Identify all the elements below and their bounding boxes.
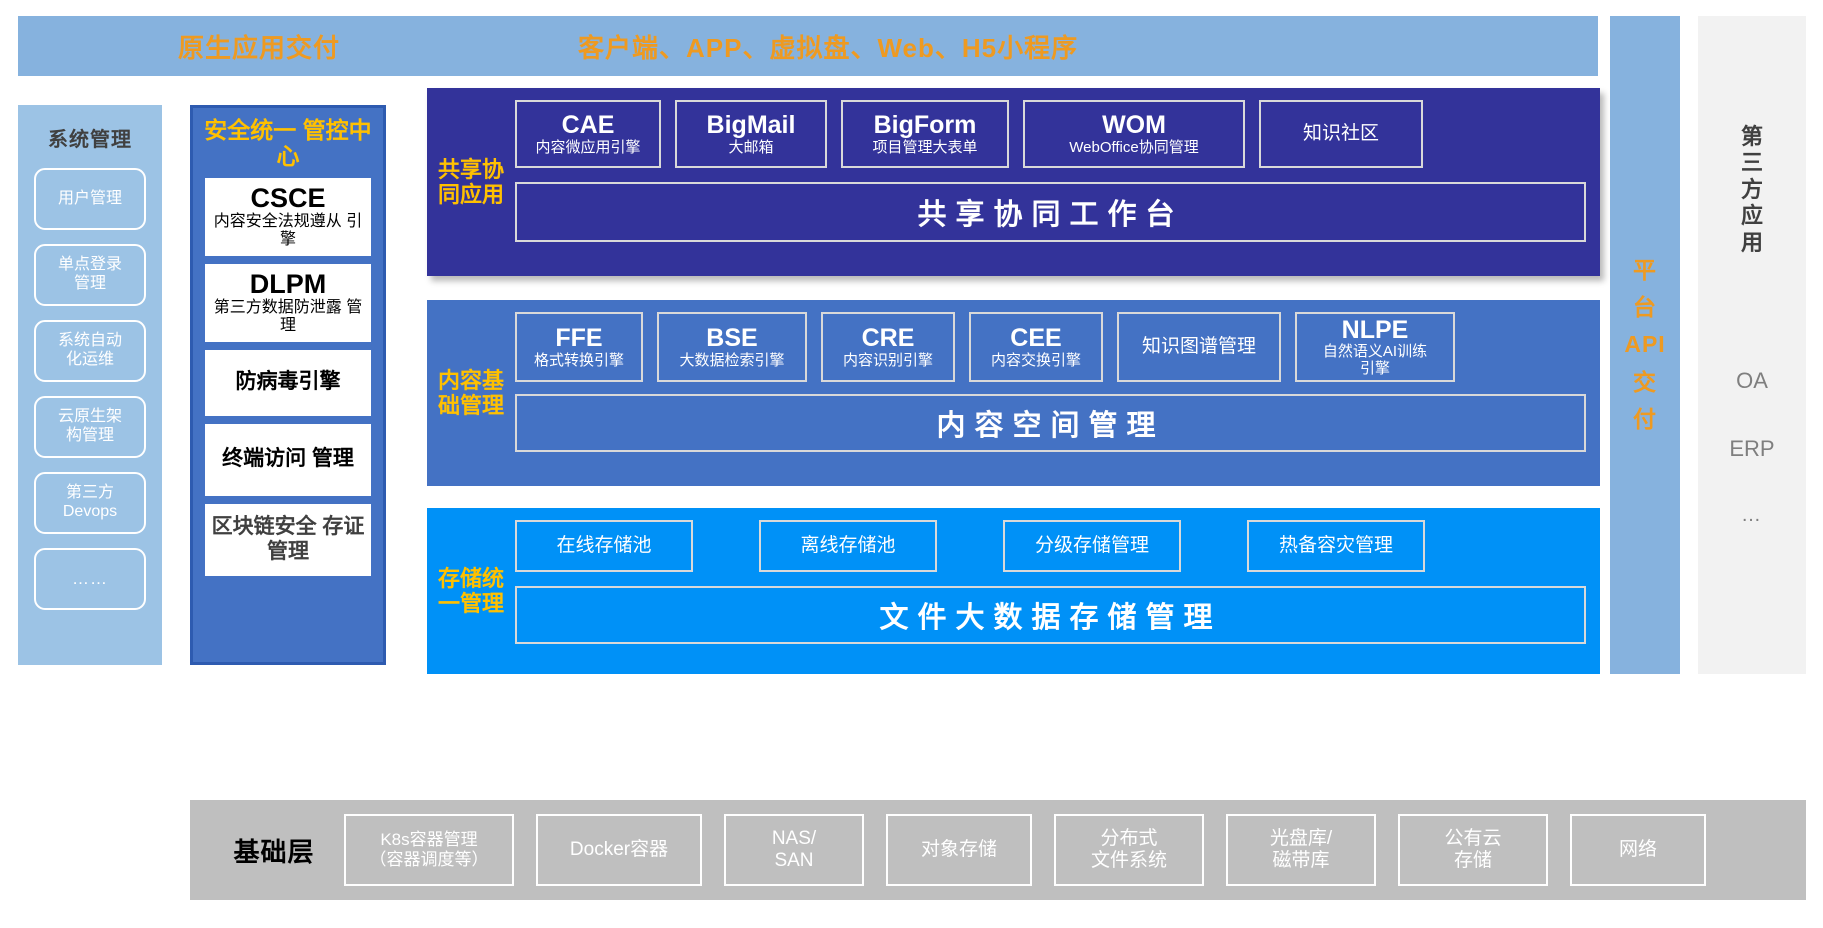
- security-item-terminal-access[interactable]: 终端访问 管理: [205, 424, 371, 496]
- security-item-antivirus-engine[interactable]: 防病毒引擎: [205, 350, 371, 416]
- app-chip-bigform-desc: 项目管理大表单: [872, 140, 977, 157]
- content-chip-bse-desc: 大数据检索引擎: [679, 353, 784, 370]
- third-party-option-more: …: [1741, 504, 1763, 527]
- content-chip-cee[interactable]: CEE 内容交换引擎: [969, 312, 1103, 382]
- third-party-title: 第 三 方 应 用: [1741, 124, 1763, 256]
- panel-shared-collaboration: 共享协 同应用 CAE 内容微应用引擎 BigMail 大邮箱 BigForm …: [427, 88, 1600, 276]
- sidebar-item-sso-management[interactable]: 单点登录 管理: [34, 244, 146, 306]
- security-item-csce-desc: 内容安全法规遵从 引擎: [207, 213, 369, 249]
- panel-storage-management: 存储统 一管理 在线存储池 离线存储池 分级存储管理 热备容灾管理 文件大数据存…: [427, 508, 1600, 674]
- content-chip-cre-desc: 内容识别引擎: [843, 353, 933, 370]
- app-chip-knowledge-community-label: 知识社区: [1303, 123, 1379, 145]
- storage-chip-online-pool[interactable]: 在线存储池: [515, 520, 693, 572]
- app-chip-cae[interactable]: CAE 内容微应用引擎: [515, 100, 661, 168]
- content-chip-ffe-desc: 格式转换引擎: [534, 353, 624, 370]
- security-item-csce-code: CSCE: [250, 184, 325, 213]
- infra-chip-docker[interactable]: Docker容器: [536, 814, 702, 886]
- storage-chip-tiered-storage-label: 分级存储管理: [1035, 535, 1149, 557]
- content-chip-cre[interactable]: CRE 内容识别引擎: [821, 312, 955, 382]
- top-banner-right-label: 客户端、APP、虚拟盘、Web、H5小程序: [578, 28, 1078, 65]
- content-chip-bse-code: BSE: [706, 325, 757, 353]
- system-management-title: 系统管理: [48, 123, 132, 152]
- security-item-csce[interactable]: CSCE 内容安全法规遵从 引擎: [205, 178, 371, 256]
- content-chip-nlpe[interactable]: NLPE 自然语义AI训练 引擎: [1295, 312, 1455, 382]
- platform-api-column: 平 台 API 交 付: [1610, 16, 1680, 674]
- file-bigdata-storage-bar[interactable]: 文件大数据存储管理: [515, 586, 1586, 644]
- content-chip-cee-code: CEE: [1010, 325, 1061, 353]
- content-space-management-bar[interactable]: 内容空间管理: [515, 394, 1586, 452]
- panel-shared-collaboration-chips: CAE 内容微应用引擎 BigMail 大邮箱 BigForm 项目管理大表单 …: [515, 100, 1586, 168]
- diagram-canvas: 原生应用交付 客户端、APP、虚拟盘、Web、H5小程序 系统管理 用户管理 单…: [0, 0, 1823, 928]
- storage-chip-offline-pool-label: 离线存储池: [800, 535, 895, 557]
- infra-chip-object-storage[interactable]: 对象存储: [886, 814, 1032, 886]
- infra-chip-optical-tape-library[interactable]: 光盘库/ 磁带库: [1226, 814, 1376, 886]
- infra-chip-k8s[interactable]: K8s容器管理 （容器调度等）: [344, 814, 514, 886]
- shared-collaboration-workbench-bar[interactable]: 共享协同工作台: [515, 182, 1586, 242]
- app-chip-bigform[interactable]: BigForm 项目管理大表单: [841, 100, 1009, 168]
- storage-chip-hot-standby-dr-label: 热备容灾管理: [1279, 535, 1393, 557]
- app-chip-wom-code: WOM: [1102, 112, 1166, 140]
- platform-api-label: 平 台 API 交 付: [1624, 252, 1665, 438]
- infra-chip-public-cloud-storage[interactable]: 公有云 存储: [1398, 814, 1548, 886]
- sidebar-item-automated-ops[interactable]: 系统自动 化运维: [34, 320, 146, 382]
- security-item-terminal-access-label: 终端访问 管理: [222, 447, 354, 472]
- storage-chip-online-pool-label: 在线存储池: [556, 535, 651, 557]
- security-item-dlpm-code: DLPM: [250, 270, 327, 299]
- panel-content-base-management: 内容基 础管理 FFE 格式转换引擎 BSE 大数据检索引擎 CRE 内容识别引…: [427, 300, 1600, 486]
- panel-content-base-management-label: 内容基 础管理: [427, 300, 515, 486]
- content-chip-nlpe-desc: 自然语义AI训练 引擎: [1323, 344, 1427, 377]
- content-chip-nlpe-code: NLPE: [1342, 317, 1409, 345]
- security-item-dlpm[interactable]: DLPM 第三方数据防泄露 管理: [205, 264, 371, 342]
- infra-chip-nas-san[interactable]: NAS/ SAN: [724, 814, 864, 886]
- content-chip-knowledge-graph[interactable]: 知识图谱管理: [1117, 312, 1281, 382]
- app-chip-wom[interactable]: WOM WebOffice协同管理: [1023, 100, 1245, 168]
- content-chip-ffe-code: FFE: [555, 325, 602, 353]
- content-chip-bse[interactable]: BSE 大数据检索引擎: [657, 312, 807, 382]
- storage-chip-tiered-storage[interactable]: 分级存储管理: [1003, 520, 1181, 572]
- app-chip-bigmail[interactable]: BigMail 大邮箱: [675, 100, 827, 168]
- third-party-option-oa: OA: [1736, 368, 1768, 394]
- security-item-blockchain-evidence[interactable]: 区块链安全 存证管理: [205, 504, 371, 576]
- storage-chip-offline-pool[interactable]: 离线存储池: [759, 520, 937, 572]
- content-chip-cre-code: CRE: [862, 325, 915, 353]
- panel-content-base-chips: FFE 格式转换引擎 BSE 大数据检索引擎 CRE 内容识别引擎 CEE 内容…: [515, 312, 1586, 382]
- app-chip-cae-desc: 内容微应用引擎: [535, 140, 640, 157]
- app-chip-cae-code: CAE: [562, 112, 615, 140]
- sidebar-item-user-management[interactable]: 用户管理: [34, 168, 146, 230]
- app-chip-wom-desc: WebOffice协同管理: [1069, 140, 1198, 157]
- content-chip-ffe[interactable]: FFE 格式转换引擎: [515, 312, 643, 382]
- panel-storage-chips: 在线存储池 离线存储池 分级存储管理 热备容灾管理: [515, 520, 1586, 572]
- security-item-dlpm-desc: 第三方数据防泄露 管理: [207, 299, 369, 335]
- top-banner-left-label: 原生应用交付: [178, 28, 340, 65]
- sidebar-item-cloud-native-arch[interactable]: 云原生架 构管理: [34, 396, 146, 458]
- infrastructure-title: 基础层: [204, 832, 344, 869]
- panel-shared-collaboration-label: 共享协 同应用: [427, 88, 515, 276]
- third-party-option-erp: ERP: [1729, 436, 1774, 462]
- security-item-blockchain-label: 区块链安全 存证管理: [207, 515, 369, 565]
- storage-chip-hot-standby-dr[interactable]: 热备容灾管理: [1247, 520, 1425, 572]
- infra-chip-network[interactable]: 网络: [1570, 814, 1706, 886]
- content-chip-knowledge-graph-label: 知识图谱管理: [1142, 336, 1256, 358]
- infra-chip-distributed-fs[interactable]: 分布式 文件系统: [1054, 814, 1204, 886]
- content-chip-cee-desc: 内容交换引擎: [991, 353, 1081, 370]
- app-chip-bigmail-code: BigMail: [707, 112, 796, 140]
- third-party-column: 第 三 方 应 用 OA ERP …: [1698, 16, 1806, 674]
- system-management-column: 系统管理 用户管理 单点登录 管理 系统自动 化运维 云原生架 构管理 第三方 …: [18, 105, 162, 665]
- app-chip-knowledge-community[interactable]: 知识社区: [1259, 100, 1423, 168]
- infrastructure-layer: 基础层 K8s容器管理 （容器调度等） Docker容器 NAS/ SAN 对象…: [190, 800, 1806, 900]
- security-center-title: 安全统一 管控中心: [193, 118, 383, 170]
- top-banner: 原生应用交付 客户端、APP、虚拟盘、Web、H5小程序: [18, 16, 1598, 76]
- security-item-antivirus-label: 防病毒引擎: [236, 370, 341, 395]
- security-center-column: 安全统一 管控中心 CSCE 内容安全法规遵从 引擎 DLPM 第三方数据防泄露…: [190, 105, 386, 665]
- sidebar-item-more[interactable]: ……: [34, 548, 146, 610]
- panel-storage-management-label: 存储统 一管理: [427, 508, 515, 674]
- app-chip-bigform-code: BigForm: [874, 112, 977, 140]
- app-chip-bigmail-desc: 大邮箱: [728, 140, 773, 157]
- sidebar-item-third-party-devops[interactable]: 第三方 Devops: [34, 472, 146, 534]
- infrastructure-items: K8s容器管理 （容器调度等） Docker容器 NAS/ SAN 对象存储 分…: [344, 814, 1792, 886]
